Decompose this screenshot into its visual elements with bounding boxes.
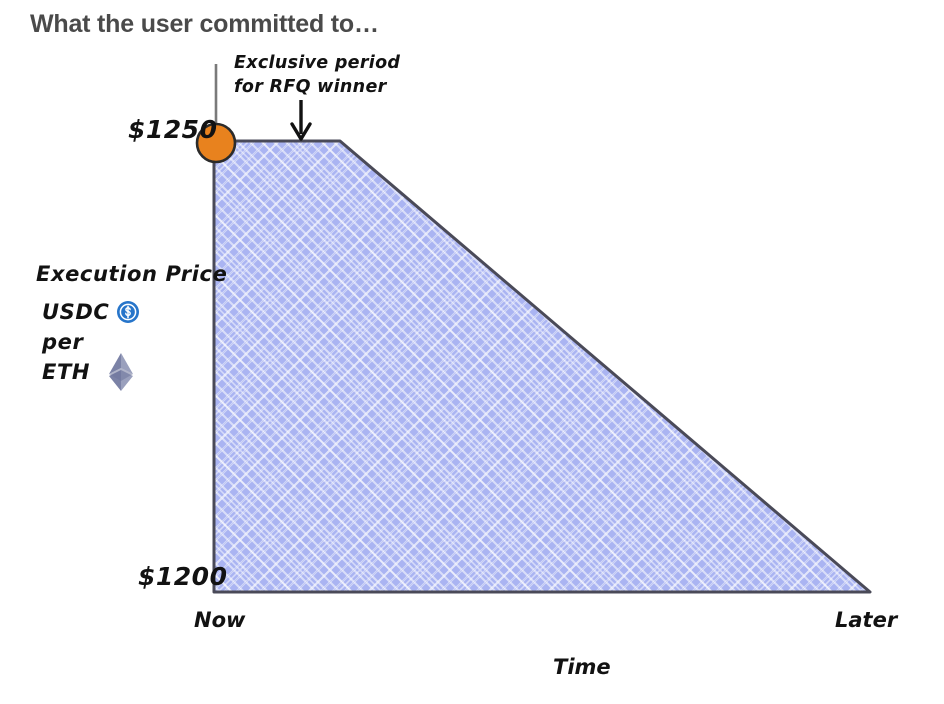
y-axis-title-group: Execution Price USDC per ETH [36, 262, 221, 398]
exclusive-period-annotation: Exclusive period for RFQ winner [234, 52, 400, 99]
ethereum-diamond-icon [108, 352, 134, 392]
x-axis-tick-later: Later [835, 608, 897, 632]
eth-label: ETH [42, 360, 90, 384]
usdc-label: USDC [42, 300, 109, 324]
per-label: per [36, 330, 221, 354]
y-axis-tick-lower: $1200 [138, 562, 227, 591]
y-axis-title: Execution Price [36, 262, 221, 286]
y-axis-numerator-row: USDC [36, 300, 221, 324]
y-axis-denominator-row: ETH [36, 352, 221, 392]
x-axis-title: Time [553, 655, 611, 679]
down-arrow-icon [292, 100, 310, 139]
usdc-coin-icon [116, 300, 140, 324]
y-axis-tick-upper: $1250 [128, 115, 217, 144]
x-axis-tick-now: Now [194, 608, 245, 632]
committed-price-area [214, 141, 870, 592]
